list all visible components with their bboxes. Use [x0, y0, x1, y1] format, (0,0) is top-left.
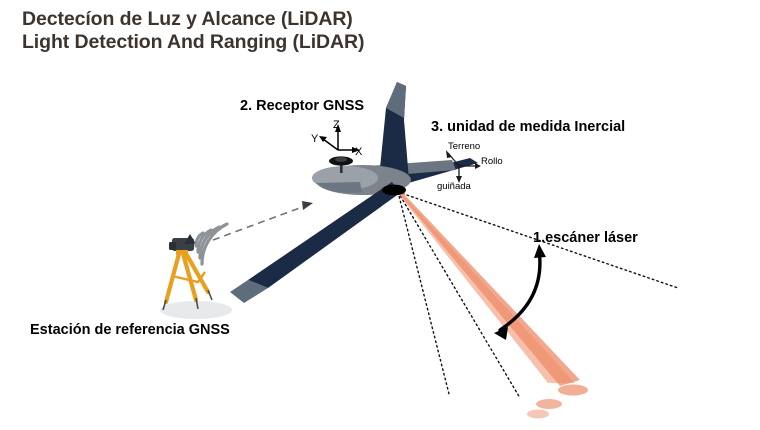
- lidar-diagram: Dectecíon de Luz y Alcance (LiDAR) Light…: [0, 0, 760, 430]
- label-roll-rollo: Rollo: [481, 156, 503, 167]
- laser-beam: [396, 191, 588, 419]
- label-reference-station: Estación de referencia GNSS: [30, 322, 230, 338]
- axis-y-line: [323, 139, 338, 150]
- label-yaw-guinada: guiñada: [437, 181, 471, 192]
- scene-vector-layer: [0, 0, 760, 430]
- laser-scanner-pod: [382, 185, 406, 196]
- label-laser-scanner: 1.escáner láser: [533, 230, 638, 246]
- label-axis-z: Z: [333, 119, 340, 131]
- laser-footprint-2: [536, 399, 562, 409]
- antenna-disc-top: [335, 157, 347, 162]
- tripod-shadow: [160, 301, 232, 319]
- label-pitch-terreno: Terreno: [448, 141, 480, 152]
- aircraft-fuselage-shadow: [316, 182, 362, 193]
- label-gnss-receiver: 2. Receptor GNSS: [240, 98, 364, 114]
- label-axis-x: X: [355, 146, 362, 158]
- label-imu: 3. unidad de medida Inercial: [431, 119, 625, 135]
- gnss-link-arrow: [213, 201, 313, 240]
- label-axis-y: Y: [311, 133, 318, 145]
- swath-line-near: [398, 192, 520, 398]
- gnss-link-arrowhead: [302, 201, 313, 210]
- station-mount-plate: [176, 250, 188, 255]
- aircraft-wing-near: [248, 182, 400, 288]
- aircraft: [230, 82, 478, 303]
- laser-footprint-1: [558, 385, 588, 396]
- gnss-signal-waves: [196, 224, 227, 264]
- station-instrument-lens: [169, 242, 176, 250]
- laser-footprint-3: [527, 410, 549, 419]
- laser-beam-inner: [396, 191, 575, 383]
- scan-sweep-arrowhead-up: [534, 244, 546, 258]
